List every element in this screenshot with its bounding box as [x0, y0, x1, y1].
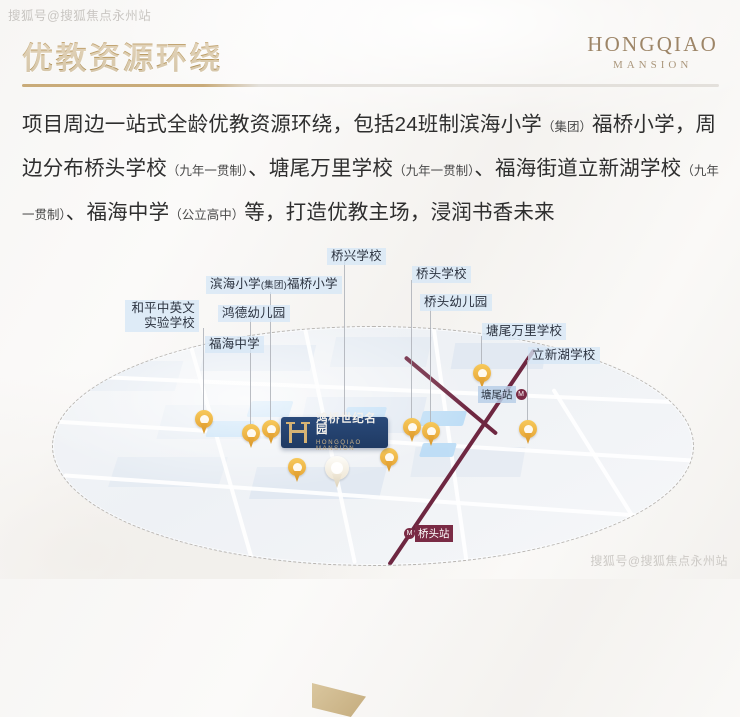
pin-tip-icon: [293, 471, 301, 482]
pin-tip-icon: [427, 435, 435, 446]
brand-logo: HONGQIAO MANSION: [587, 34, 718, 71]
map-pin-lixinhu[interactable]: [519, 420, 537, 444]
copy-seg-1: 项目周边一站式全龄优教资源环绕，包括24班制滨海小学: [22, 113, 542, 136]
pin-tip-icon: [332, 474, 342, 488]
copy-note-2: （九年一贯制）: [167, 164, 248, 178]
leader-line: [203, 328, 204, 413]
leader-line: [411, 280, 412, 420]
map-label-fuhai-middle: 福海中学: [205, 336, 264, 353]
hongqiao-h-logo-icon: [286, 421, 312, 445]
copy-seg-4: 、福海街道立新湖学校: [474, 157, 681, 180]
leader-line: [344, 260, 345, 420]
map-label-tangwei: 塘尾万里学校: [482, 323, 566, 340]
leader-line: [527, 360, 528, 422]
station-tangwei[interactable]: 塘尾站 M: [478, 386, 527, 403]
watermark-top-left: 搜狐号@搜狐焦点永州站: [8, 5, 151, 24]
copy-seg-3: 、塘尾万里学校: [248, 157, 393, 180]
map-label-binhai-fuqiao: 滨海小学(集团)福桥小学: [206, 276, 342, 294]
map-pin-heping[interactable]: [195, 410, 213, 434]
brand-name: HONGQIAO: [587, 34, 718, 55]
map-block: [108, 457, 228, 487]
brand-tagline: MANSION: [587, 59, 718, 71]
copy-note-3: （九年一贯制）: [393, 164, 474, 178]
map-road: [64, 473, 683, 520]
copy-seg-5: 、福海中学: [66, 201, 170, 224]
leader-line: [250, 314, 251, 426]
map-label-lixinhu: 立新湖学校: [528, 347, 600, 364]
map-pin-fuhai-middle[interactable]: [288, 458, 306, 482]
map-label-qiaotou-kindergarten: 桥头幼儿园: [420, 294, 492, 311]
map-pin-project[interactable]: [325, 456, 349, 488]
map-road: [551, 388, 660, 560]
map-pin-tangwei[interactable]: [473, 364, 491, 388]
map-pin-qiaotou-kindergarten[interactable]: [422, 422, 440, 446]
copy-seg-6: 等，打造优教主场，浸润书香未来: [244, 201, 555, 224]
copy-note-1: （集团）: [542, 120, 592, 134]
map-road: [63, 373, 683, 404]
page-title: 优教资源环绕: [22, 33, 223, 78]
map-block: [89, 361, 184, 391]
map-pin-qiaotou-school[interactable]: [403, 418, 421, 442]
map-block: [249, 467, 387, 499]
map-label-qiaoxing: 桥兴学校: [327, 248, 386, 265]
map-label-hongde: 鸿德幼儿园: [218, 305, 290, 322]
project-name-en: HONGQIAO MANSION: [316, 440, 388, 452]
description-paragraph: 项目周边一站式全龄优教资源环绕，包括24班制滨海小学（集团）福桥小学，周边分布桥…: [22, 104, 722, 236]
pin-tip-icon: [247, 437, 255, 448]
title-underline: [22, 84, 719, 87]
map-block: [410, 447, 525, 477]
station-label: 桥头站: [415, 525, 453, 542]
map-label-heping: 和平中英文 实验学校: [125, 300, 199, 332]
copy-note-5: （公立高中）: [169, 208, 244, 222]
leader-line: [481, 336, 482, 364]
pin-tip-icon: [200, 423, 208, 434]
location-map: 和平中英文 实验学校 滨海小学(集团)福桥小学 鸿德幼儿园 福海中学 桥兴学校 …: [0, 228, 740, 573]
pin-tip-icon: [524, 433, 532, 444]
pin-tip-icon: [267, 433, 275, 444]
metro-icon: M: [516, 389, 527, 400]
station-label: 塘尾站: [478, 386, 516, 403]
map-pin-extra[interactable]: [380, 448, 398, 472]
map-pin-binhai[interactable]: [242, 424, 260, 448]
pin-tip-icon: [385, 461, 393, 472]
station-qiaotou[interactable]: M 桥头站: [404, 525, 453, 542]
map-label-qiaotou-school: 桥头学校: [412, 266, 471, 283]
leader-line: [430, 306, 431, 424]
project-badge[interactable]: 鸿桥世纪名园 HONGQIAO MANSION: [281, 417, 388, 448]
project-highlight-fan: [312, 683, 366, 717]
map-pin-hongde[interactable]: [262, 420, 280, 444]
pin-tip-icon: [408, 431, 416, 442]
project-name-cn: 鸿桥世纪名园: [316, 414, 388, 437]
metro-icon: M: [404, 528, 415, 539]
